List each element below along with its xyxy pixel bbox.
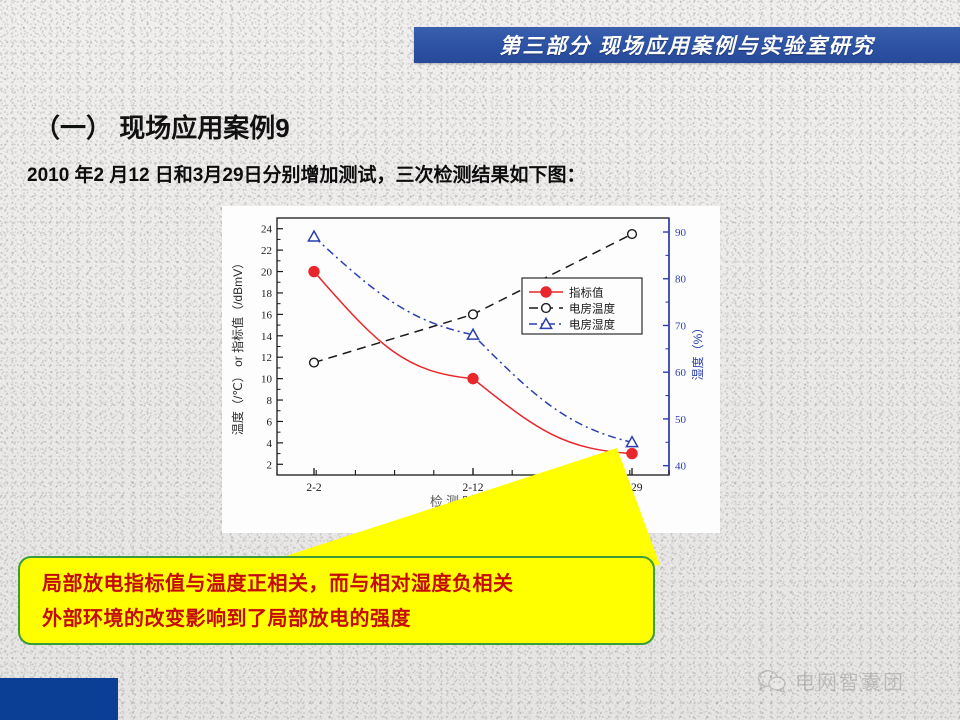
watermark-text: 电网智囊团: [795, 666, 905, 695]
chart-legend: 指标值电房温度电房湿度: [522, 278, 642, 334]
left-tick-label: 8: [267, 395, 273, 407]
left-tick-label: 6: [267, 416, 273, 428]
left-tick-label: 10: [261, 374, 273, 386]
watermark: 电网智囊团: [757, 666, 905, 695]
legend-label: 电房湿度: [569, 318, 615, 332]
y2-axis-title: 湿度（%）: [690, 322, 705, 381]
wechat-icon: [757, 669, 787, 693]
line-chart: 24681012141618202224 405060708090 2-22-1…: [222, 206, 720, 533]
right-tick-label: 80: [675, 274, 687, 286]
left-tick-label: 2: [267, 459, 273, 471]
left-tick-label: 22: [261, 245, 272, 257]
callout-line-2: 外部环境的改变影响到了局部放电的强度: [42, 602, 653, 637]
x-axis-title: 检测时间: [430, 494, 494, 509]
x-tick-label: 2-2: [306, 482, 322, 494]
callout-box: 局部放电指标值与温度正相关，而与相对湿度负相关 外部环境的改变影响到了局部放电的…: [18, 556, 655, 645]
page-title: （一） 现场应用案例9: [34, 108, 290, 145]
y-axis-title: 温度（/℃） or 指标值（/dBmV）: [230, 257, 245, 435]
footer-accent-block: [0, 678, 118, 720]
left-tick-label: 18: [261, 288, 273, 300]
page-subtitle: 2010 年2 月12 日和3月29日分别增加测试，三次检测结果如下图：: [27, 160, 586, 187]
left-tick-label: 14: [261, 331, 273, 343]
left-tick-label: 24: [261, 224, 273, 236]
legend-label: 指标值: [569, 286, 604, 300]
left-tick-label: 12: [261, 352, 272, 364]
right-tick-label: 40: [675, 461, 687, 473]
left-tick-label: 4: [267, 438, 273, 450]
x-tick-label: 2-12: [462, 482, 483, 494]
section-banner-title: 第三部分 现场应用案例与实验室研究: [499, 30, 874, 60]
legend-label: 电房温度: [569, 302, 615, 316]
right-tick-label: 50: [675, 414, 687, 426]
callout-line-1: 局部放电指标值与温度正相关，而与相对湿度负相关: [42, 567, 653, 602]
right-tick-label: 90: [675, 227, 687, 239]
chart-panel: 24681012141618202224 405060708090 2-22-1…: [222, 206, 720, 533]
right-tick-label: 60: [675, 367, 687, 379]
left-tick-label: 20: [261, 267, 273, 279]
right-tick-label: 70: [675, 320, 687, 332]
x-tick-label: 3-29: [621, 482, 642, 494]
left-tick-label: 16: [261, 309, 273, 321]
section-banner: 第三部分 现场应用案例与实验室研究: [414, 27, 960, 63]
